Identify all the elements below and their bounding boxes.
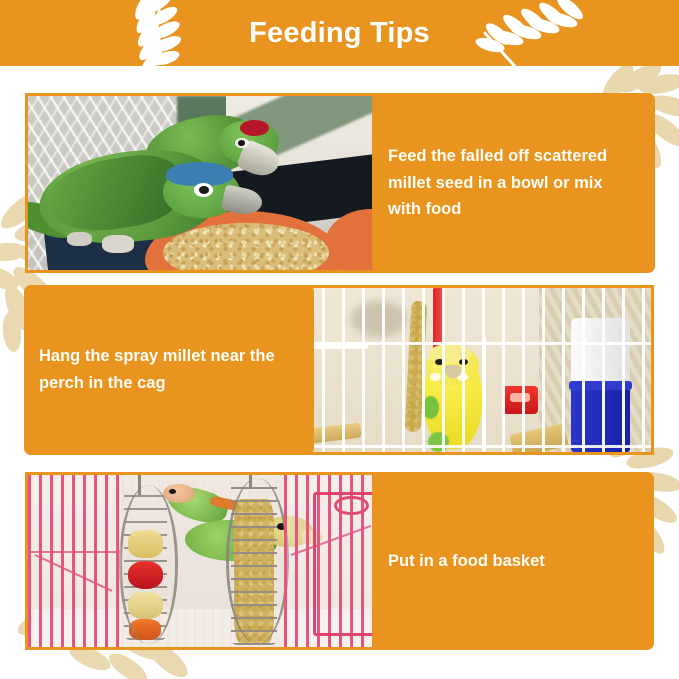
tip-row-3: Put in a food basket — [0, 472, 679, 650]
tip-1-text-panel: Feed the falled off scattered millet see… — [372, 93, 655, 273]
tip-3-text-panel: Put in a food basket — [372, 472, 654, 650]
header-banner: Feeding Tips — [0, 0, 679, 66]
tip-1-text: Feed the falled off scattered millet see… — [388, 143, 639, 223]
tip-1-photo-parrots-eating-seed — [25, 93, 385, 273]
tip-row-1: Feed the falled off scattered millet see… — [0, 93, 679, 273]
tip-row-2: Hang the spray millet near the perch in … — [0, 285, 679, 455]
tip-2-text: Hang the spray millet near the perch in … — [39, 343, 299, 396]
tip-3-photo-lovebirds-food-basket — [25, 472, 387, 650]
page-title: Feeding Tips — [0, 0, 679, 66]
tip-2-text-panel: Hang the spray millet near the perch in … — [24, 285, 314, 455]
feeding-tips-infographic: Feeding Tips Feed the falled off scatter… — [0, 0, 679, 679]
tip-3-text: Put in a food basket — [388, 548, 545, 575]
tip-2-photo-budgie-with-spray-millet — [299, 285, 654, 455]
